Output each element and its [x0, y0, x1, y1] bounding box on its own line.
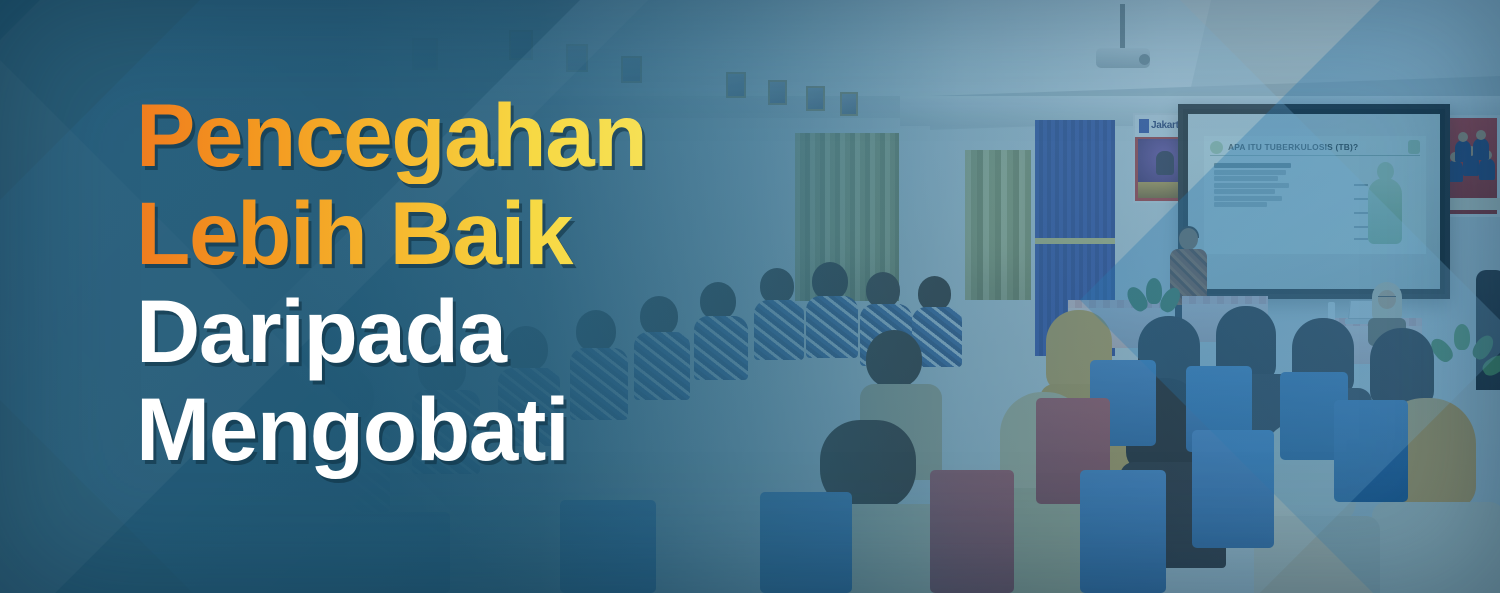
- headline-line-3: Daripada: [136, 282, 646, 380]
- hero-banner: Jakarta APA ITU TUBERKULOSIS (TB)?: [0, 0, 1500, 593]
- headline-block: Pencegahan Lebih Baik Daripada Mengobati: [136, 86, 646, 478]
- headline-line-1: Pencegahan: [136, 86, 646, 184]
- headline-line-4: Mengobati: [136, 380, 646, 478]
- headline-line-2: Lebih Baik: [136, 184, 646, 282]
